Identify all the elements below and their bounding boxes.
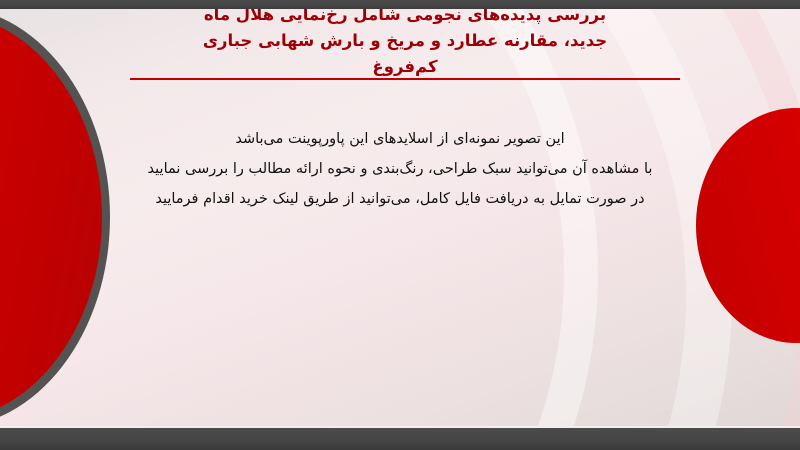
- slide-body-line-1: این تصویر نمونه‌ای از اسلایدهای این پاور…: [120, 124, 680, 154]
- title-divider-line: [130, 78, 680, 80]
- bottom-gray-band: [0, 428, 800, 450]
- slide-body-text: این تصویر نمونه‌ای از اسلایدهای این پاور…: [120, 124, 680, 214]
- bottom-band-highlight: [0, 426, 800, 428]
- slide-body-line-3: در صورت تمایل به دریافت فایل کامل، می‌تو…: [120, 184, 680, 214]
- top-gray-band: [0, 0, 800, 9]
- presentation-slide: بررسی پدیده‌های نجومی شامل رخ‌نمایی هلال…: [0, 0, 800, 450]
- slide-title-line-3: کم‌فروغ: [130, 54, 680, 80]
- slide-body-line-2: با مشاهده آن می‌توانید سبک طراحی، رنگ‌بن…: [120, 154, 680, 184]
- slide-title-line-2: جدید، مقارنه عطارد و مریخ و بارش شهابی ج…: [130, 28, 680, 54]
- slide-title: بررسی پدیده‌های نجومی شامل رخ‌نمایی هلال…: [130, 2, 680, 80]
